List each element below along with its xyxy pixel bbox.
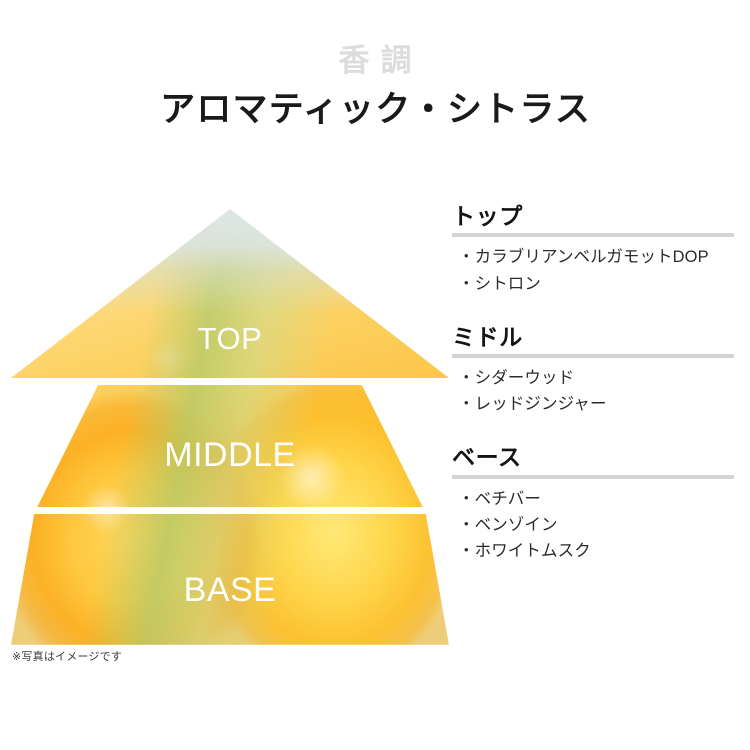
page-title: アロマティック・シトラス (0, 88, 750, 132)
pyramid-label-top: TOP (11, 321, 449, 357)
note-group-base: ベース ・ベチバー ・ベンゾイン ・ホワイトムスク (452, 444, 734, 564)
photo-disclaimer-note: ※写真はイメージです (12, 648, 122, 664)
note-rule-base (452, 475, 734, 479)
scent-pyramid: TOP MIDDLE BASE (11, 209, 449, 645)
fragrance-pyramid-infographic: 香調 アロマティック・シトラス TOP MIDDLE BASE ※写真はイメージ… (0, 0, 750, 750)
scent-notes-panel: トップ ・カラブリアンベルガモットDOP ・シトロン ミドル ・シダーウッド ・… (452, 203, 734, 564)
note-item: ・ベンゾイン (452, 512, 734, 538)
note-item: ・レッドジンジャー (452, 391, 734, 417)
note-group-top: トップ ・カラブリアンベルガモットDOP ・シトロン (452, 203, 734, 297)
note-rule-top (452, 233, 734, 237)
note-heading-middle: ミドル (452, 324, 734, 350)
header: 香調 アロマティック・シトラス (0, 42, 750, 132)
note-list-middle: ・シダーウッド ・レッドジンジャー (452, 365, 734, 417)
note-heading-base: ベース (452, 444, 734, 470)
note-item: ・シダーウッド (452, 365, 734, 391)
note-item: ・カラブリアンベルガモットDOP (452, 244, 734, 270)
note-item: ・ベチバー (452, 486, 734, 512)
pyramid-label-middle: MIDDLE (11, 436, 449, 475)
note-rule-middle (452, 354, 734, 358)
note-heading-top: トップ (452, 203, 734, 229)
note-item: ・シトロン (452, 271, 734, 297)
note-list-base: ・ベチバー ・ベンゾイン ・ホワイトムスク (452, 486, 734, 564)
note-item: ・ホワイトムスク (452, 538, 734, 564)
note-group-middle: ミドル ・シダーウッド ・レッドジンジャー (452, 324, 734, 418)
page-kicker: 香調 (0, 42, 750, 81)
note-list-top: ・カラブリアンベルガモットDOP ・シトロン (452, 244, 734, 296)
pyramid-label-base: BASE (11, 571, 449, 610)
